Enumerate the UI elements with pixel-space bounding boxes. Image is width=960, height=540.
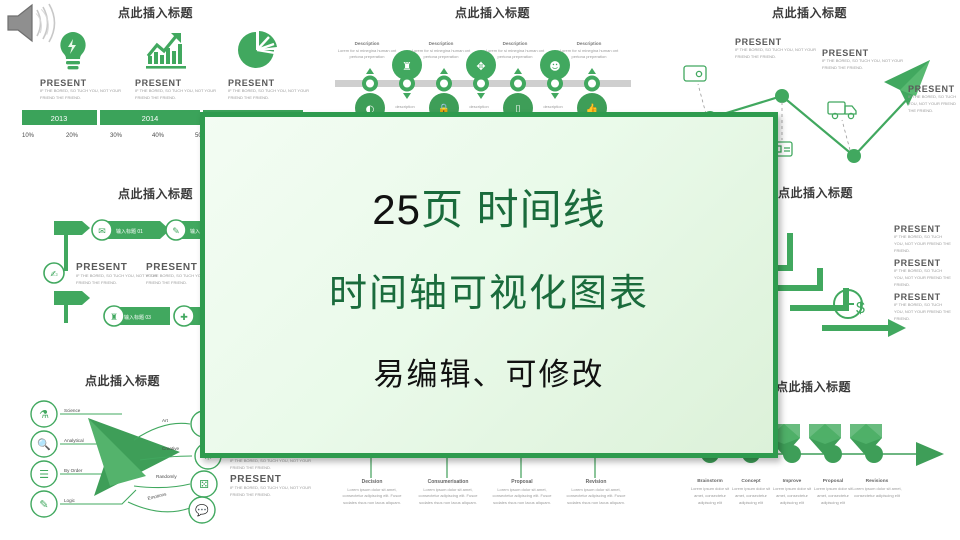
year-segment-label: 2013: [51, 114, 68, 123]
svg-text:⚄: ⚄: [199, 478, 209, 491]
step-block: Improve Lorem ipsum dolor sit amet, cons…: [769, 478, 815, 507]
mindmap-label: Randomly: [156, 474, 177, 479]
svg-text:♜: ♜: [402, 60, 412, 73]
svg-text:40%: 40%: [152, 133, 165, 139]
card-label: PRESENT: [228, 78, 323, 88]
desc-block: Description Lorem for si minegina human …: [559, 40, 619, 61]
page-number: 25: [372, 186, 421, 233]
path-node: [775, 89, 789, 103]
card-top-left-1: PRESENT IF THE BORED, SO TUCH YOU, NOT Y…: [40, 28, 135, 102]
svg-text:🔍: 🔍: [37, 437, 51, 451]
desc-label: description: [526, 104, 580, 111]
panel-line-1: 25页 时间线: [372, 189, 605, 231]
note-block: Proposal Lorem ipsum dolor sit amet, con…: [490, 478, 554, 507]
mindmap-label: Science: [64, 408, 81, 413]
overlay-title-panel: 25页 时间线 时间轴可视化图表 易编辑、可修改: [200, 112, 778, 458]
svg-text:✚: ✚: [180, 313, 188, 323]
mindmap-label: Art: [162, 418, 169, 423]
arrow-label: 输入标题 01: [116, 228, 143, 235]
bottom-center-notes: [335, 458, 645, 480]
clock-dollar-icon: $: [834, 290, 865, 318]
svg-text:✉: ✉: [98, 227, 106, 237]
step-block: Revisions Lorem ipsum dolor sit amet, co…: [851, 478, 903, 500]
svg-text:10%: 10%: [22, 133, 35, 139]
present-block: PRESENT IF THE BORED, SO TUCH YOU, NOT Y…: [735, 37, 817, 61]
svg-text:💬: 💬: [195, 504, 209, 517]
card-body: IF THE BORED, SO TUCH YOU, NOT YOUR FRIE…: [135, 88, 217, 102]
growth-chart-icon: [144, 28, 192, 74]
mindmap-label: Emotions: [147, 491, 167, 501]
mindmap-label: Analytical: [64, 438, 84, 443]
svg-text:✎: ✎: [172, 227, 180, 237]
desc-label: description: [378, 104, 432, 111]
section-title-mid-right: 点此插入标题: [778, 184, 853, 201]
present-body-fragment: IF THE BORED, SO TUCH YOU, NOT YOUR FRIE…: [230, 458, 312, 472]
card-body: IF THE BORED, SO TUCH YOU, NOT YOUR FRIE…: [40, 88, 122, 102]
svg-text:$: $: [856, 300, 865, 317]
card-top-left-3: PRESENT IF THE BORED, SO TUCH YOU, NOT Y…: [228, 28, 323, 102]
svg-text:✎: ✎: [39, 498, 48, 511]
svg-text:20%: 20%: [66, 133, 79, 139]
present-block: PRESENT IF THE BORED, SO TUCH YOU, NOT Y…: [894, 224, 952, 254]
card-top-left-2: PRESENT IF THE BORED, SO TUCH YOU, NOT Y…: [135, 28, 230, 102]
page-number-suffix: 页 时间线: [421, 186, 606, 233]
arrow-right-icon: [916, 442, 944, 466]
mindmap-label: By Order: [64, 468, 83, 473]
present-block: PRESENT IF THE BORED, SO TUCH YOU, NOT Y…: [894, 258, 952, 288]
wallet-icon: [684, 66, 706, 81]
section-title-top-center: 点此插入标题: [455, 4, 530, 21]
svg-text:✍: ✍: [50, 270, 58, 280]
panel-line-3: 易编辑、可修改: [374, 359, 605, 390]
mindmap-label: Logic: [64, 498, 76, 503]
pie-chart-icon: [235, 28, 281, 74]
present-block: PRESENT IF THE BORED, SO TUCH YOU, NOT Y…: [230, 474, 312, 499]
section-title-top-right: 点此插入标题: [772, 4, 847, 21]
section-title-mid-left: 点此插入标题: [118, 185, 193, 202]
step-block: Proposal Lorem ipsum dolor sit amet, con…: [810, 478, 856, 507]
svg-text:⚗: ⚗: [39, 408, 49, 421]
year-segment-label: 2014: [142, 114, 159, 123]
section-title-top-left: 点此插入标题: [118, 4, 193, 21]
desc-label: description: [452, 104, 506, 111]
desc-block: Description Lorem for si minegina human …: [337, 40, 397, 61]
svg-text:☻: ☻: [549, 60, 560, 73]
arrow-label: 输入标题 03: [124, 314, 151, 321]
svg-text:✥: ✥: [476, 60, 485, 73]
truck-icon: [828, 102, 856, 119]
card-body: IF THE BORED, SO TUCH YOU, NOT YOUR FRIE…: [228, 88, 310, 102]
slide-canvas: 点此插入标题 PRESENT IF THE BORED, SO TUCH YOU…: [0, 0, 960, 540]
signpost-icon: [54, 291, 90, 323]
note-block: Revision Lorem ipsum dolor sit amet, con…: [564, 478, 628, 507]
svg-text:☰: ☰: [39, 468, 49, 481]
svg-text:30%: 30%: [110, 133, 123, 139]
step-block: Concept Lorem ipsum dolor sit amet, cons…: [728, 478, 774, 507]
mindmap-label: Creative: [162, 446, 180, 451]
present-block: PRESENT IF THE BORED, SO TUCH YOU, NOT Y…: [908, 84, 960, 114]
section-title-bottom-right: 点此插入标题: [776, 378, 851, 395]
section-title-bottom-left: 点此插入标题: [85, 372, 160, 389]
present-block: PRESENT IF THE BORED, SO TUCH YOU, NOT Y…: [822, 48, 904, 72]
svg-text:♜: ♜: [110, 313, 118, 323]
desc-block: Description Lorem for si minegina human …: [485, 40, 545, 61]
present-block: PRESENT IF THE BORED, SO TUCH YOU, NOT Y…: [894, 292, 952, 322]
card-label: PRESENT: [40, 78, 135, 88]
step-block: Brainstorm Lorem ipsum dolor sit amet, c…: [687, 478, 733, 507]
path-node: [847, 149, 861, 163]
note-block: Consumerisation Lorem ipsum dolor sit am…: [416, 478, 480, 507]
lightbulb-icon: [50, 28, 96, 74]
panel-line-2: 时间轴可视化图表: [329, 275, 649, 313]
card-label: PRESENT: [135, 78, 230, 88]
desc-block: Description Lorem for si minegina human …: [411, 40, 471, 61]
note-block: Decision Lorem ipsum dolor sit amet, con…: [340, 478, 404, 507]
